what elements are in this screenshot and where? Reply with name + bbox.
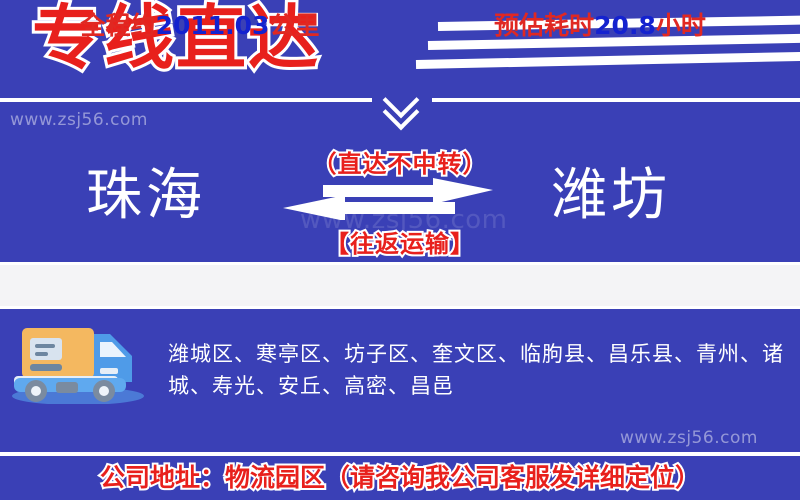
distance-value: 2011.03 <box>156 11 270 40</box>
divider-right <box>432 98 800 102</box>
company-address: 公司地址：物流园区（请咨询我公司客服发详细定位） <box>0 458 800 494</box>
double-arrow-icon <box>283 178 493 220</box>
direct-route-badge: （直达不中转） <box>0 144 800 179</box>
stats-band <box>0 262 800 309</box>
distance-label: 全程约 <box>81 11 156 40</box>
watermark-top: www.zsj56.com <box>10 110 148 130</box>
round-trip-badge: 【往返运输】 <box>0 224 800 259</box>
diagonal-stripe-icon <box>416 52 800 69</box>
distance-stat: 全程约2011.03公里 <box>0 6 400 42</box>
coverage-area-list: 潍城区、寒亭区、坊子区、奎文区、临朐县、昌乐县、青州、诸城、寿光、安丘、高密、昌… <box>168 338 790 402</box>
duration-value: 20.8 <box>594 11 656 40</box>
delivery-truck-icon <box>8 316 148 404</box>
divider-left <box>0 98 372 102</box>
distance-unit: 公里 <box>269 11 319 40</box>
logistics-route-poster: 专线直达 www.zsj56.com www.zsj56.com www.zsj… <box>0 0 800 500</box>
duration-label: 预估耗时 <box>494 11 594 40</box>
duration-stat: 预估耗时20.8小时 <box>400 6 800 42</box>
footer-divider <box>0 452 800 456</box>
duration-unit: 小时 <box>656 11 706 40</box>
watermark-bottom: www.zsj56.com <box>620 428 758 448</box>
